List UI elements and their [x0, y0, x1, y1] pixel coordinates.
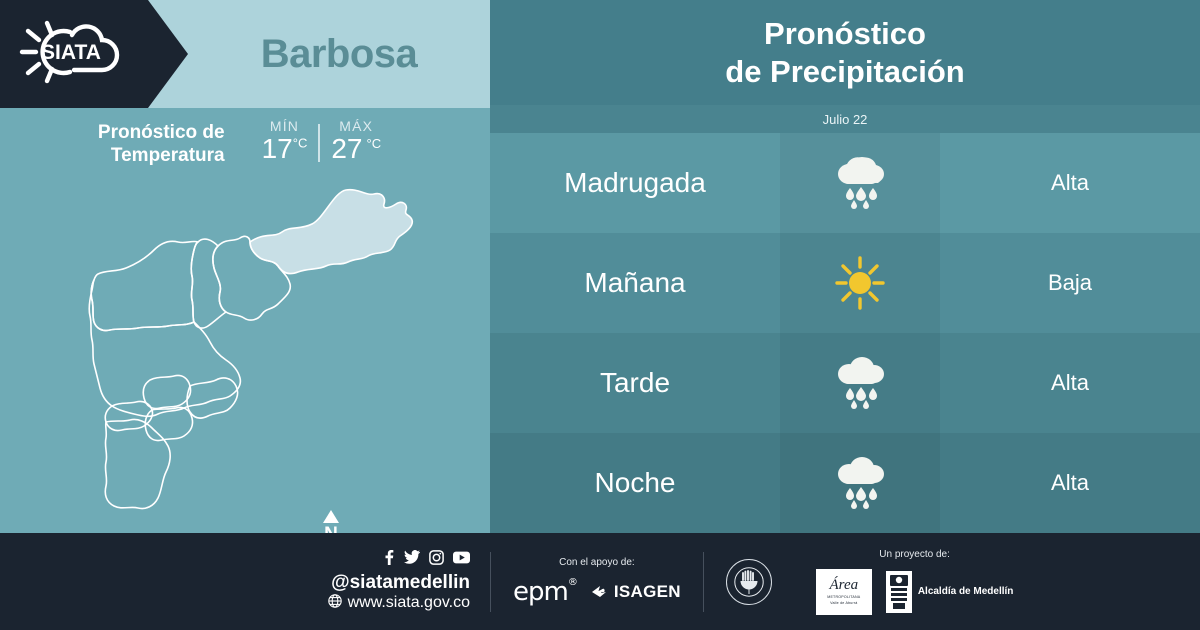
forecast-date: Julio 22 — [490, 105, 1200, 133]
temperature-min: MÍN 17°C — [251, 118, 319, 163]
support-block: Con el apoyo de: epm® ISAGEN — [491, 557, 703, 607]
epm-logo-text: epm — [513, 577, 568, 607]
right-panel: Pronóstico de Precipitación Julio 22 Mad… — [490, 0, 1200, 533]
project-block: Un proyecto de: Área METROPOLITANA Valle… — [794, 549, 1036, 615]
siata-logo-badge: SIATA — [0, 0, 188, 108]
rain-cloud-icon — [780, 354, 940, 412]
temperature-title: Pronóstico de Temperatura — [98, 118, 225, 167]
footer: @siatamedellin www.siata.gov.co Con el a… — [0, 533, 1200, 630]
temperature-max: MÁX 27°C — [320, 118, 392, 163]
forecast-row-manana: Mañana — [490, 233, 1200, 333]
project-caption: Un proyecto de: — [879, 549, 950, 560]
instagram-icon[interactable] — [429, 550, 444, 570]
area-logo-line2: Valle de Aburrá — [830, 601, 857, 605]
precipitation-title-line1: Pronóstico — [725, 15, 964, 53]
alcaldia-label: Alcaldía de Medellín — [918, 586, 1014, 597]
left-header: SIATA Barbosa — [0, 0, 490, 108]
isagen-logo: ISAGEN — [591, 582, 681, 602]
social-handle[interactable]: @siatamedellin — [331, 572, 470, 594]
precipitation-title-line2: de Precipitación — [725, 53, 964, 91]
probability-label: Alta — [940, 170, 1200, 196]
social-icons — [382, 550, 470, 570]
period-label: Noche — [490, 467, 780, 499]
min-unit: °C — [293, 136, 308, 151]
max-value: 27 — [331, 133, 362, 164]
probability-label: Alta — [940, 470, 1200, 496]
website-url[interactable]: www.siata.gov.co — [348, 594, 470, 612]
rain-cloud-icon — [780, 154, 940, 212]
forecast-row-tarde: Tarde Alta — [490, 333, 1200, 433]
isagen-mark-icon — [591, 584, 611, 600]
max-label: MÁX — [339, 118, 373, 134]
min-value: 17 — [262, 133, 293, 164]
social-block: @siatamedellin www.siata.gov.co — [0, 550, 490, 613]
min-value-wrap: 17°C — [262, 134, 308, 163]
area-logo-line1: METROPOLITANA — [827, 595, 860, 599]
probability-label: Baja — [940, 270, 1200, 296]
probability-label: Alta — [940, 370, 1200, 396]
map-region-barbosa — [250, 190, 412, 274]
period-label: Mañana — [490, 267, 780, 299]
rain-cloud-icon — [780, 454, 940, 512]
isagen-logo-text: ISAGEN — [614, 582, 681, 602]
twitter-icon[interactable] — [404, 550, 420, 569]
temperature-title-line1: Pronóstico de — [98, 121, 225, 144]
aburra-valley-map: N — [50, 180, 450, 530]
left-panel: SIATA Barbosa Pronóstico de Temperatura … — [0, 0, 490, 533]
forecast-row-madrugada: Madrugada Alta — [490, 133, 1200, 233]
forecast-rows: Madrugada Alta — [490, 133, 1200, 533]
max-value-wrap: 27°C — [331, 134, 381, 163]
sun-icon — [780, 254, 940, 312]
support-caption: Con el apoyo de: — [559, 557, 635, 568]
temperature-values: MÍN 17°C MÁX 27°C — [251, 118, 393, 163]
city-title: Barbosa — [188, 0, 490, 108]
precipitation-title: Pronóstico de Precipitación — [725, 15, 964, 91]
website-row[interactable]: www.siata.gov.co — [328, 594, 470, 613]
seal-block — [704, 559, 794, 605]
forecast-row-noche: Noche Alta — [490, 433, 1200, 533]
alcaldia-crest-icon — [886, 571, 912, 613]
alcaldia-logo: Alcaldía de Medellín — [886, 571, 1014, 613]
area-signature-icon: Área — [830, 578, 859, 593]
youtube-icon[interactable] — [453, 551, 470, 569]
facebook-icon[interactable] — [382, 550, 395, 570]
university-seal-icon — [726, 559, 772, 605]
sun-cloud-icon: SIATA — [14, 15, 126, 94]
period-label: Madrugada — [490, 167, 780, 199]
temperature-block: Pronóstico de Temperatura MÍN 17°C MÁX 2… — [0, 118, 490, 180]
precipitation-header: Pronóstico de Precipitación — [490, 0, 1200, 105]
weather-forecast-poster: SIATA Barbosa Pronóstico de Temperatura … — [0, 0, 1200, 630]
area-metropolitana-logo: Área METROPOLITANA Valle de Aburrá — [816, 569, 872, 615]
support-logos: epm® ISAGEN — [513, 577, 681, 607]
max-unit: °C — [367, 136, 382, 151]
epm-logo: epm® — [513, 577, 577, 607]
min-label: MÍN — [270, 118, 299, 134]
temperature-title-line2: Temperatura — [98, 144, 225, 167]
period-label: Tarde — [490, 367, 780, 399]
globe-icon — [328, 594, 342, 613]
project-logos: Área METROPOLITANA Valle de Aburrá — [816, 569, 1014, 615]
svg-text:SIATA: SIATA — [41, 41, 101, 64]
